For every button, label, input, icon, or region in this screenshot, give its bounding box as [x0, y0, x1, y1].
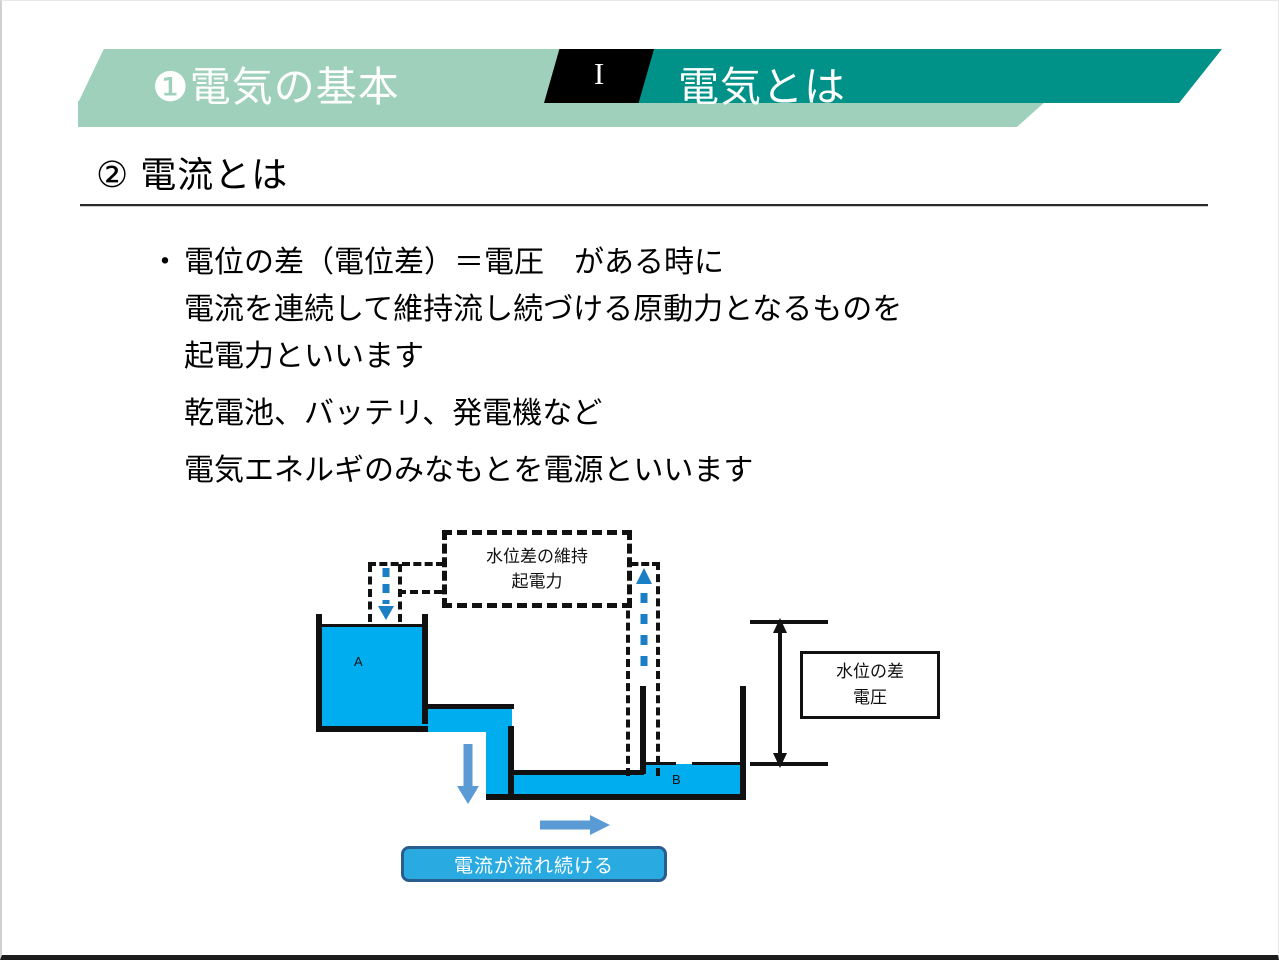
subtitle-divider — [80, 204, 1208, 207]
tank-b-surface-line-right — [692, 762, 740, 765]
body-line-4: 乾電池、バッテリ、発電機など — [184, 390, 1100, 437]
page-title: ② 電流とは — [80, 146, 1210, 198]
tank-a-water — [322, 626, 422, 732]
flow-right-arrow-icon — [540, 812, 612, 843]
channel-upper-surface-line — [422, 704, 514, 709]
current-flow-callout: 電流が流れ続ける — [401, 846, 667, 882]
tank-b-left-wall — [640, 686, 646, 774]
body-line-3: 起電力といいます — [184, 333, 1100, 380]
emf-callout-box: 水位差の維持 起電力 — [442, 530, 632, 608]
header-teal-panel — [562, 49, 1222, 103]
level-difference-arrow-icon — [770, 618, 790, 773]
body-text-block: ・ 電位の差（電位差）＝電圧 がある時に 電流を連続して維持流し続づける原動力と… — [150, 239, 1100, 494]
subtitle-block: ② 電流とは — [80, 146, 1210, 207]
body-line-2: 電流を連続して維持流し続づける原動力となるものを — [184, 286, 1100, 333]
emf-line-2: 起電力 — [512, 569, 563, 594]
water-tank-diagram: 水位差の維持 起電力 A — [2, 506, 1002, 926]
slide-canvas: ❶電気の基本 I 電気とは ② 電流とは ・ 電位の差（電位差）＝電圧 がある時… — [0, 0, 1279, 960]
pump-down-arrow-icon — [376, 566, 396, 622]
tank-a-bottom-wall — [316, 726, 428, 732]
bullet-marker: ・ — [150, 239, 184, 286]
voltage-line-1: 水位の差 — [836, 659, 904, 685]
current-flow-callout-label: 電流が流れ続ける — [454, 851, 614, 878]
header-section-title: 電気とは — [678, 53, 846, 113]
header-chapter-title: ❶電気の基本 — [152, 53, 400, 113]
tank-b-label: B — [672, 772, 681, 787]
tank-b-right-wall — [740, 686, 746, 800]
channel-bottom-wall — [486, 794, 746, 800]
voltage-line-2: 電圧 — [853, 685, 887, 711]
tank-a-surface-line — [322, 624, 422, 627]
header-roman-numeral: I — [544, 56, 654, 92]
voltage-callout-box: 水位の差 電圧 — [800, 651, 940, 719]
tank-a-label: A — [354, 654, 363, 669]
channel-drop-wall — [508, 726, 514, 798]
slide-header: ❶電気の基本 I 電気とは — [2, 1, 1279, 141]
tank-b-surface-line-left — [646, 762, 676, 765]
bullet-row: ・ 電位の差（電位差）＝電圧 がある時に — [150, 239, 1100, 286]
emf-line-1: 水位差の維持 — [486, 544, 588, 569]
pump-up-arrow-icon — [634, 564, 654, 668]
flow-down-arrow-icon — [454, 744, 482, 811]
body-line-1: 電位の差（電位差）＝電圧 がある時に — [184, 239, 724, 286]
tank-a-left-wall — [316, 614, 322, 732]
body-line-5: 電気エネルギのみなもとを電源といいます — [184, 447, 1100, 494]
channel-lower-surface-line — [512, 770, 644, 775]
